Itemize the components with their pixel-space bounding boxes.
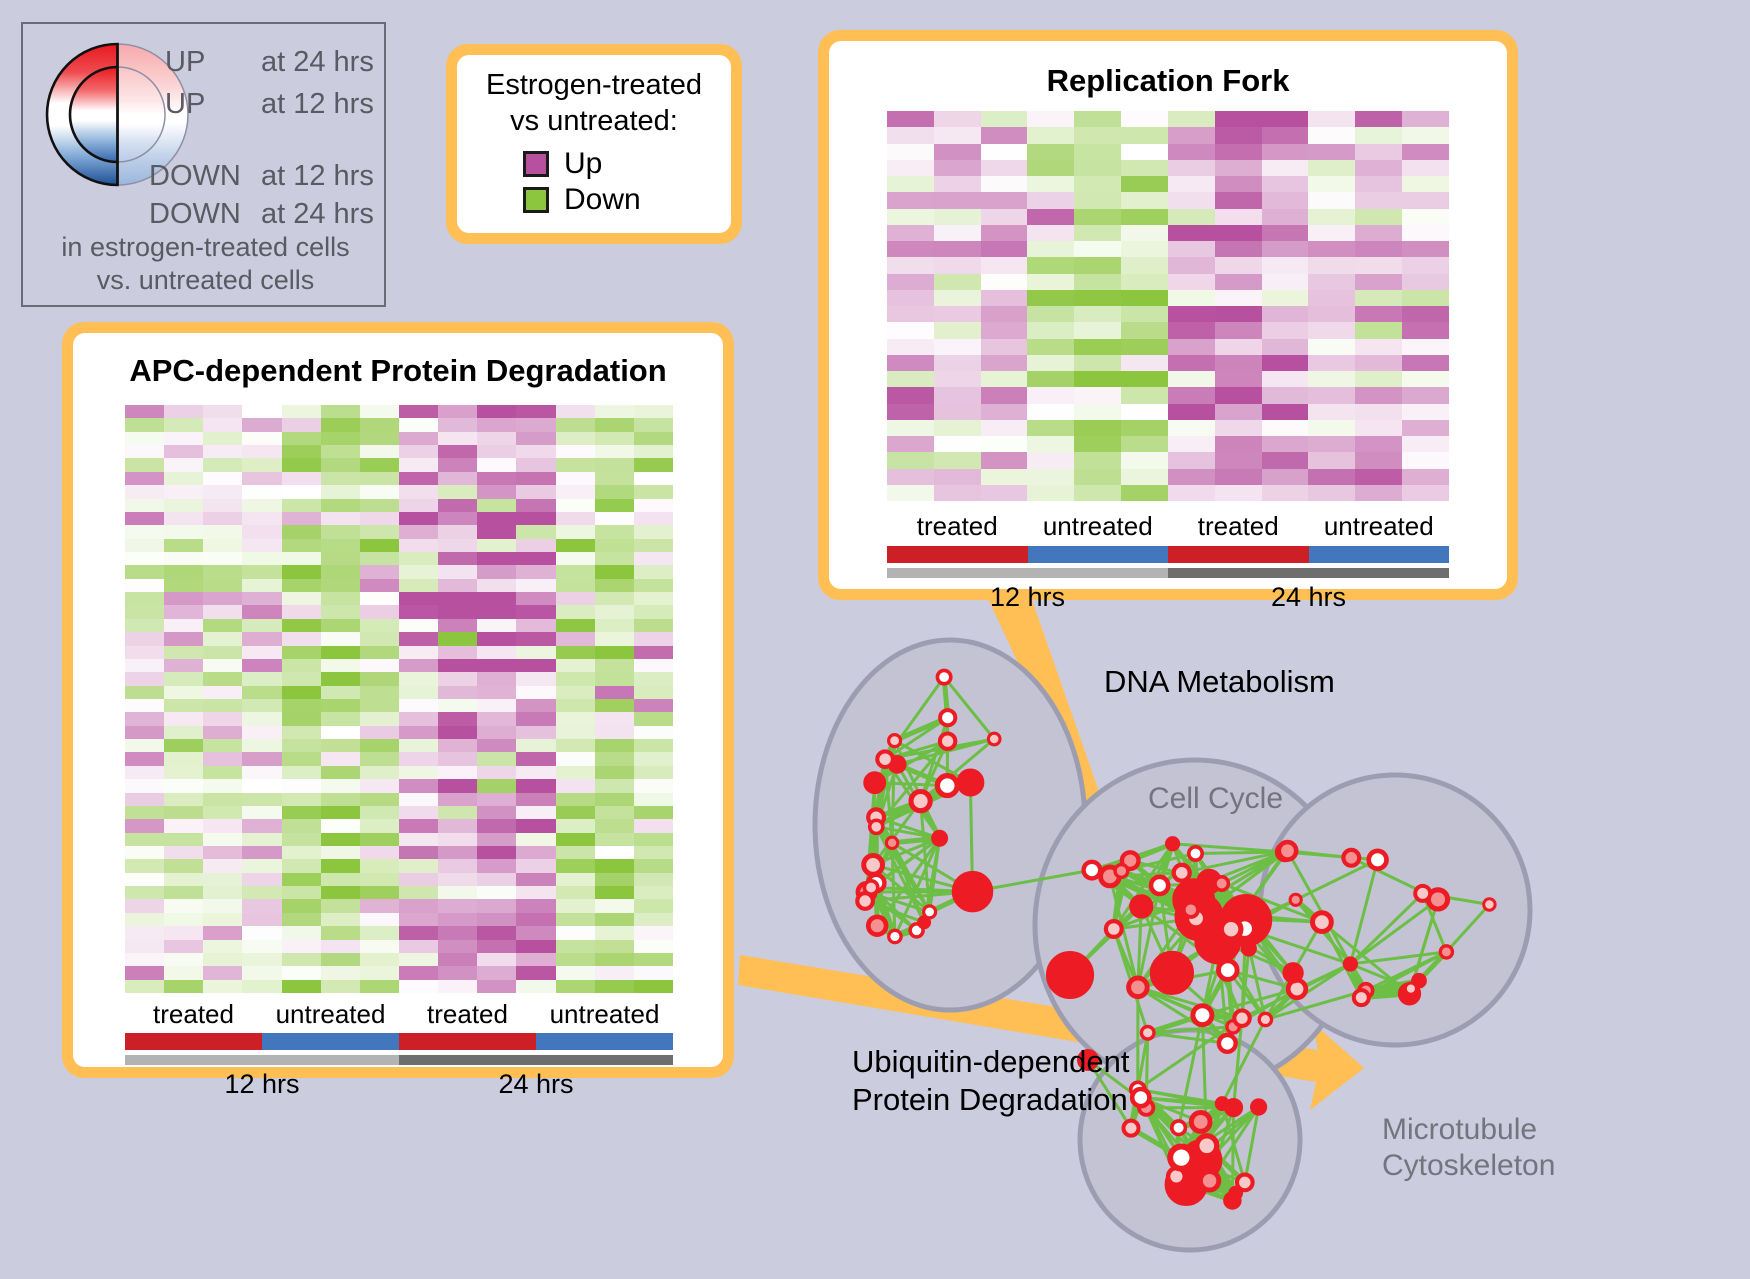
time-colour-segment <box>887 568 1168 578</box>
network-node <box>889 930 901 942</box>
legend-row-up-24: UPat 24 hrs <box>165 48 374 77</box>
cluster-label-ubiquitin: Ubiquitin-dependent Protein Degradation <box>852 1043 1130 1119</box>
network-node <box>1226 1100 1241 1115</box>
replication-fork-heatmap <box>887 111 1449 501</box>
network-node <box>1259 1013 1271 1025</box>
up-colour-swatch <box>523 151 549 177</box>
group-label: untreated <box>1028 511 1169 541</box>
time-label: 24 hrs <box>1168 582 1449 612</box>
group-colour-segment <box>887 546 1028 563</box>
time-label: 24 hrs <box>399 1069 673 1099</box>
time-label: 12 hrs <box>887 582 1168 612</box>
network-node <box>1170 1147 1192 1169</box>
group-colour-segment <box>1309 546 1450 563</box>
network-node <box>1051 956 1089 994</box>
down-label: Down <box>564 185 641 215</box>
replication-fork-group-labels: treateduntreatedtreateduntreated <box>887 511 1449 541</box>
replication-fork-time-labels: 12 hrs24 hrs <box>887 582 1449 612</box>
apc-group-bar <box>125 1033 673 1050</box>
cluster-label-cell-cycle: Cell Cycle <box>1148 782 1283 816</box>
network-node <box>1197 1136 1217 1156</box>
network-node <box>1115 865 1128 878</box>
cluster-label-microtubule-line2: Cytoskeleton <box>1382 1148 1555 1184</box>
group-colour-segment <box>1028 546 1169 563</box>
group-label: treated <box>887 511 1028 541</box>
network-node <box>924 906 936 918</box>
network-node <box>956 875 989 908</box>
legend-footer-line1: in estrogen-treated cells <box>23 231 388 264</box>
group-label: untreated <box>536 999 673 1029</box>
network-node <box>1124 1121 1139 1136</box>
network-node <box>1193 1006 1212 1025</box>
legend-key: DOWN <box>149 200 261 229</box>
replication-fork-title: Replication Fork <box>829 63 1507 99</box>
network-node <box>1132 1089 1149 1106</box>
group-colour-segment <box>1168 546 1309 563</box>
estrogen-legend-title: Estrogen-treated vs untreated: <box>457 67 731 139</box>
network-node <box>1200 1172 1218 1190</box>
network-node <box>1129 978 1148 997</box>
network-node <box>1084 862 1101 879</box>
group-colour-segment <box>399 1033 536 1050</box>
time-colour-segment <box>399 1055 673 1065</box>
network-node <box>1313 913 1332 932</box>
network-node <box>937 776 957 796</box>
network-node <box>1285 964 1302 981</box>
network-node <box>870 820 883 833</box>
legend-key: DOWN <box>149 162 261 191</box>
group-label: untreated <box>262 999 399 1029</box>
network-node <box>1172 1121 1186 1135</box>
network-node <box>937 670 950 683</box>
legend-value: at 24 hrs <box>261 200 374 229</box>
legend-value: at 12 hrs <box>261 162 374 191</box>
network-node <box>866 774 884 792</box>
network-node <box>1343 850 1359 866</box>
cluster-label-microtubule: Microtubule Cytoskeleton <box>1382 1112 1555 1184</box>
network-node <box>1369 851 1387 869</box>
network-node <box>864 856 883 875</box>
group-label: treated <box>1168 511 1309 541</box>
network-node <box>1219 1035 1236 1052</box>
apc-time-bar <box>125 1055 673 1065</box>
time-label: 12 hrs <box>125 1069 399 1099</box>
network-node <box>1279 842 1296 859</box>
legend-item-up: Up <box>523 149 602 179</box>
network-node <box>1405 983 1416 994</box>
network-node <box>959 772 981 794</box>
legend-item-down: Down <box>523 185 641 215</box>
network-node <box>889 735 901 747</box>
group-colour-segment <box>536 1033 673 1050</box>
up-label: Up <box>564 149 602 179</box>
legend-footer-line2: vs. untreated cells <box>23 264 388 297</box>
network-node <box>940 734 955 749</box>
group-label: untreated <box>1309 511 1450 541</box>
apc-group-labels: treateduntreatedtreateduntreated <box>125 999 673 1029</box>
estrogen-legend-card: Estrogen-treated vs untreated: Up Down <box>446 44 742 244</box>
legend-key: UP <box>165 90 261 119</box>
apc-time-labels: 12 hrs24 hrs <box>125 1069 673 1099</box>
down-colour-swatch <box>523 187 549 213</box>
network-node <box>1141 1027 1154 1040</box>
group-colour-segment <box>125 1033 262 1050</box>
replication-fork-panel: Replication Fork treateduntreatedtreated… <box>818 30 1518 600</box>
network-node <box>886 837 897 848</box>
network-node <box>1252 1100 1266 1114</box>
cluster-label-ubiquitin-line1: Ubiquitin-dependent <box>852 1043 1130 1081</box>
network-node <box>1415 886 1430 901</box>
network-node <box>1184 903 1198 917</box>
legend-row-up-12: UPat 12 hrs <box>165 90 374 119</box>
network-node <box>933 832 946 845</box>
legend-row-down-24: DOWNat 24 hrs <box>149 200 374 229</box>
network-node <box>1189 847 1202 860</box>
network-node <box>868 917 886 935</box>
cluster-label-dna-metabolism: DNA Metabolism <box>1104 664 1335 700</box>
time-colour-segment <box>125 1055 399 1065</box>
network-node <box>1221 919 1241 939</box>
estrogen-legend-title-line1: Estrogen-treated <box>457 67 731 103</box>
network-node <box>940 710 955 725</box>
network-node <box>1132 897 1151 916</box>
network-node <box>1215 877 1228 890</box>
network-node <box>857 893 873 909</box>
network-node <box>988 733 1000 745</box>
network-node <box>1106 921 1122 937</box>
group-label: treated <box>399 999 536 1029</box>
group-colour-segment <box>262 1033 399 1050</box>
network-node <box>1484 899 1495 910</box>
legend-footer: in estrogen-treated cells vs. untreated … <box>23 231 388 297</box>
time-colour-segment <box>1168 568 1449 578</box>
network-node <box>1344 958 1356 970</box>
estrogen-legend-title-line2: vs untreated: <box>457 103 731 139</box>
cluster-label-ubiquitin-line2: Protein Degradation <box>852 1081 1130 1119</box>
cluster-label-microtubule-line1: Microtubule <box>1382 1112 1555 1148</box>
network-node <box>1191 1113 1210 1132</box>
legend-value: at 12 hrs <box>261 90 374 119</box>
legend-value: at 24 hrs <box>261 48 374 77</box>
replication-fork-group-bar <box>887 546 1449 563</box>
network-node <box>1354 990 1369 1005</box>
network-node <box>1219 961 1238 980</box>
network-node <box>1440 946 1452 958</box>
network-node <box>1154 955 1189 990</box>
network-node <box>1151 877 1168 894</box>
network-node <box>877 751 893 767</box>
legend-key: UP <box>165 48 261 77</box>
apc-title: APC-dependent Protein Degradation <box>73 353 723 389</box>
legend-row-down-12: DOWNat 12 hrs <box>149 162 374 191</box>
group-label: treated <box>125 999 262 1029</box>
network-node <box>1174 865 1190 881</box>
pathway-network-graph <box>770 600 1750 1279</box>
network-node <box>1290 894 1301 905</box>
apc-heatmap <box>125 405 673 993</box>
network-node <box>1167 838 1179 850</box>
network-node <box>1242 942 1255 955</box>
colour-wheel-legend: UPat 24 hrs UPat 12 hrs DOWNat 12 hrs DO… <box>21 22 386 307</box>
network-node <box>911 792 930 811</box>
apc-panel: APC-dependent Protein Degradation treate… <box>62 322 734 1078</box>
network-node <box>1230 1187 1242 1199</box>
network-node <box>1234 1011 1249 1026</box>
replication-fork-time-bar <box>887 568 1449 578</box>
